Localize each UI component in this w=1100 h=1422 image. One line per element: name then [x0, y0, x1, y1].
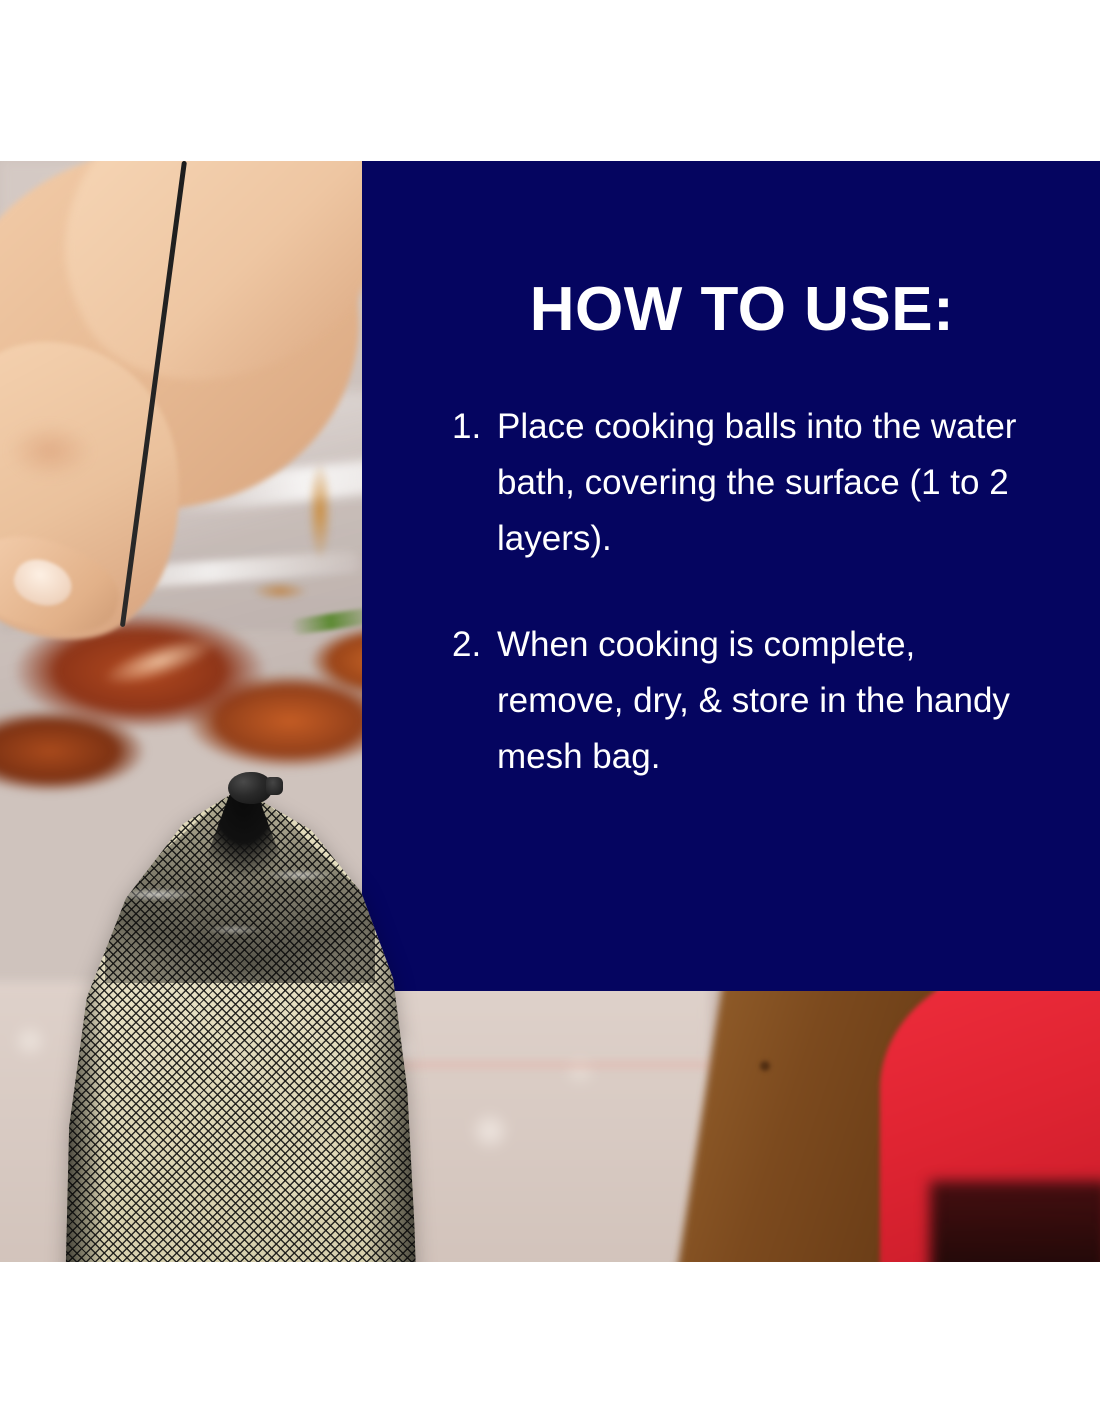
product-infographic-page: HOW TO USE: 1. Place cooking balls into …	[0, 0, 1100, 1422]
knuckle-shading	[0, 411, 110, 491]
mesh-bag-left-edge	[62, 855, 104, 1262]
step-number: 2.	[452, 617, 481, 673]
list-item: 2. When cooking is complete, remove, dry…	[452, 617, 1032, 785]
step-number: 1.	[452, 399, 481, 455]
apron-shadow	[930, 1181, 1100, 1262]
wood-knot	[760, 1061, 770, 1071]
mesh-bag-weave-wrap	[62, 793, 418, 1262]
page-title: HOW TO USE:	[452, 279, 1032, 341]
mesh-bag	[62, 793, 418, 1262]
step-text: When cooking is complete, remove, dry, &…	[497, 617, 1032, 785]
cord-lock-tab	[266, 777, 283, 795]
instructions-panel: HOW TO USE: 1. Place cooking balls into …	[362, 161, 1100, 991]
step-text: Place cooking balls into the water bath,…	[497, 399, 1032, 567]
instructions-content: HOW TO USE: 1. Place cooking balls into …	[452, 279, 1032, 785]
list-item: 1. Place cooking balls into the water ba…	[452, 399, 1032, 567]
artboard: HOW TO USE: 1. Place cooking balls into …	[0, 161, 1100, 1262]
steps-list: 1. Place cooking balls into the water ba…	[452, 399, 1032, 785]
